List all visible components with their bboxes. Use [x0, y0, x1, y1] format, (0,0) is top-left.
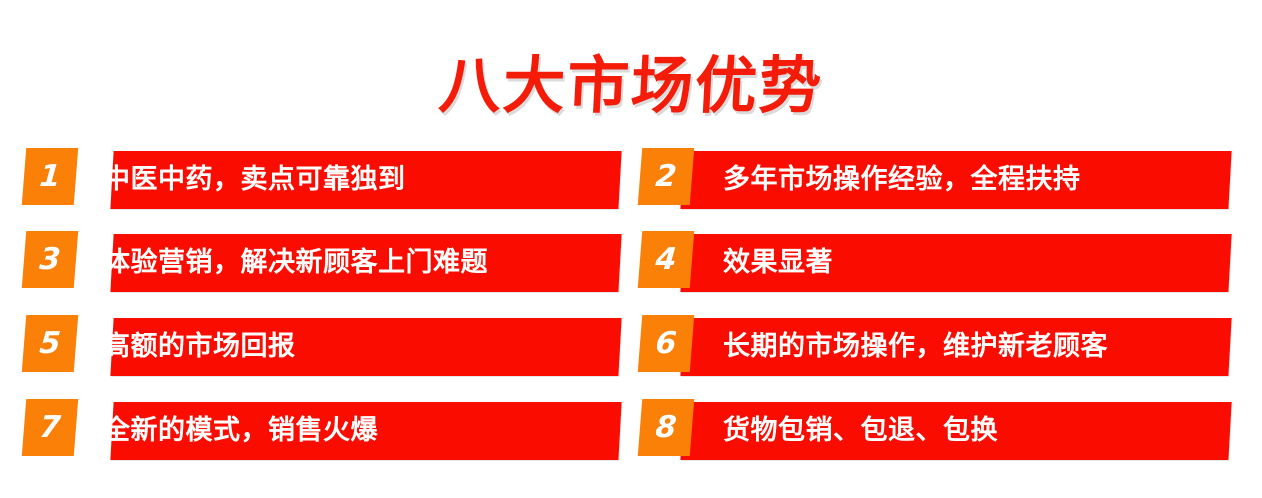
item-label: 体验营销，解决新顾客上门难题 — [103, 234, 488, 292]
item-number: 5 — [22, 315, 78, 372]
item-label: 效果显著 — [723, 234, 833, 292]
advantages-poster: 八大市场优势 1 中医中药，卖点可靠独到 2 多年市场操作经验，全程扶持 3 体… — [0, 0, 1262, 498]
advantage-item-4: 4 效果显著 — [640, 231, 1230, 293]
item-number: 7 — [22, 399, 78, 456]
advantage-item-7: 7 全新的模式，销售火爆 — [24, 399, 620, 461]
item-number-badge: 3 — [22, 231, 78, 288]
item-number: 1 — [22, 148, 78, 205]
item-label: 多年市场操作经验，全程扶持 — [723, 151, 1081, 209]
advantage-item-2: 2 多年市场操作经验，全程扶持 — [640, 148, 1230, 210]
item-number-badge: 2 — [638, 148, 694, 205]
item-number-badge: 8 — [638, 399, 694, 456]
advantage-item-8: 8 货物包销、包退、包换 — [640, 399, 1230, 461]
advantage-item-5: 5 高额的市场回报 — [24, 315, 620, 377]
item-number-badge: 4 — [638, 231, 694, 288]
item-label: 全新的模式，销售火爆 — [103, 402, 378, 460]
item-number: 2 — [638, 148, 694, 205]
item-number-badge: 5 — [22, 315, 78, 372]
item-number-badge: 6 — [638, 315, 694, 372]
advantage-list: 1 中医中药，卖点可靠独到 2 多年市场操作经验，全程扶持 3 体验营销，解决新… — [0, 148, 1262, 478]
page-title: 八大市场优势 — [437, 52, 825, 120]
item-label: 货物包销、包退、包换 — [723, 402, 998, 460]
item-label: 高额的市场回报 — [103, 318, 296, 376]
item-number: 8 — [638, 399, 694, 456]
item-number-badge: 1 — [22, 148, 78, 205]
advantage-item-3: 3 体验营销，解决新顾客上门难题 — [24, 231, 620, 293]
advantage-item-6: 6 长期的市场操作，维护新老顾客 — [640, 315, 1230, 377]
item-number-badge: 7 — [22, 399, 78, 456]
advantage-item-1: 1 中医中药，卖点可靠独到 — [24, 148, 620, 210]
item-number: 6 — [638, 315, 694, 372]
item-label: 中医中药，卖点可靠独到 — [103, 151, 406, 209]
poster-title-container: 八大市场优势 — [0, 52, 1262, 124]
item-number: 3 — [22, 231, 78, 288]
item-number: 4 — [638, 231, 694, 288]
item-label: 长期的市场操作，维护新老顾客 — [723, 318, 1108, 376]
